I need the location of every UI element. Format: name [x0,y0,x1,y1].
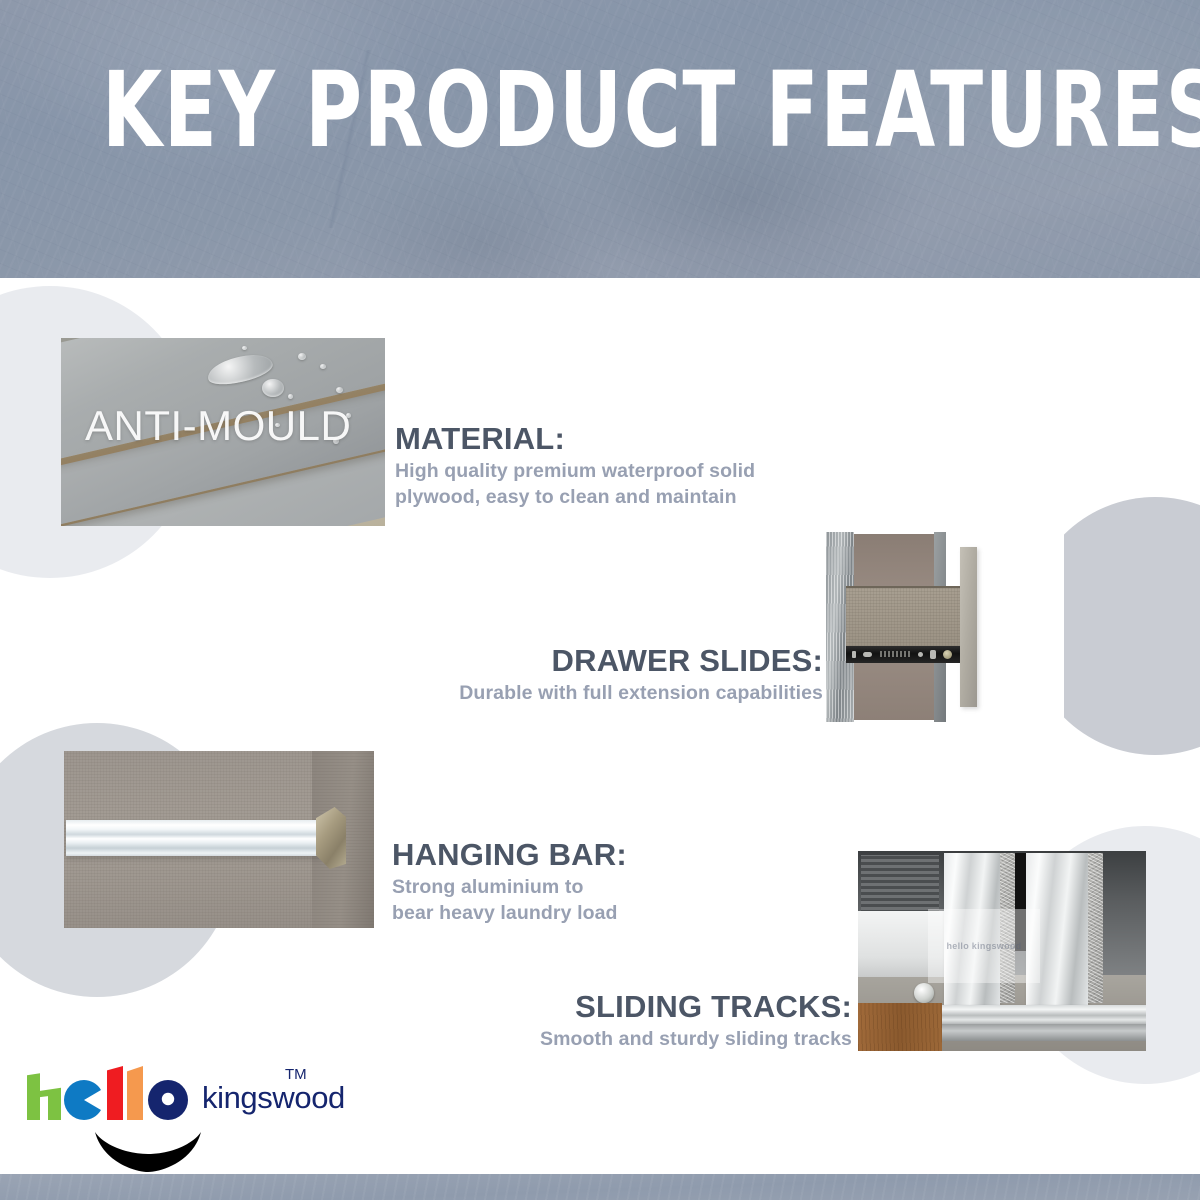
header-banner: KEY PRODUCT FEATURES [0,0,1200,278]
rail-detail [918,652,923,657]
feature-title-sliding-tracks: SLIDING TRACKS: [452,988,852,1026]
aluminium-hanging-bar [66,820,322,856]
water-droplet-small [242,346,247,350]
rail-detail [863,652,872,657]
footer-bar [0,1174,1200,1200]
brand-logo[interactable]: kingswood TM [27,1064,317,1168]
feature-desc-sliding-tracks: Smooth and sturdy sliding tracks [452,1026,852,1052]
louvered-panel [861,855,939,913]
wooden-floor-trim [858,1003,942,1051]
water-droplet-small [298,353,306,360]
feature-desc-material-line1: High quality premium waterproof solid [395,458,755,484]
logo-letter-e-icon [64,1080,104,1120]
rail-detail [852,651,856,658]
feature-text-hanging-bar: HANGING BAR: Strong aluminium to bear he… [392,836,627,926]
rail-branding-mark [880,651,910,657]
feature-desc-hanging-bar-line2: bear heavy laundry load [392,900,627,926]
logo-wordmark-hello [27,1064,188,1120]
logo-trademark-symbol: TM [285,1066,307,1083]
feature-desc-drawer-slides: Durable with full extension capabilities [375,680,823,706]
feature-text-material: MATERIAL: High quality premium waterproo… [395,420,755,510]
feature-desc-hanging-bar-line1: Strong aluminium to [392,874,627,900]
hanging-bar-bracket [316,807,346,869]
logo-smile-icon [89,1126,207,1172]
track-roller-wheel [914,983,934,1003]
sliding-track-photo: hello kingswood [858,851,1146,1051]
door-foam-seal [1088,853,1103,1003]
brand-watermark: hello kingswood [928,909,1040,983]
logo-letter-o-icon [148,1080,188,1120]
feature-text-sliding-tracks: SLIDING TRACKS: Smooth and sturdy slidin… [452,988,852,1052]
drawer-slide-photo [826,521,1064,729]
anti-mould-overlay-label: ANTI-MOULD [85,405,351,447]
logo-letter-l-red-icon [107,1066,123,1120]
rail-screw [943,650,952,659]
feature-title-hanging-bar: HANGING BAR: [392,836,627,874]
feature-title-material: MATERIAL: [395,420,755,458]
logo-letter-h-icon [27,1068,61,1120]
hanging-bar-photo [64,751,374,928]
page-title: KEY PRODUCT FEATURES [102,58,1098,162]
feature-desc-material-line2: plywood, easy to clean and maintain [395,484,755,510]
rail-detail [930,650,936,659]
feature-text-drawer-slides: DRAWER SLIDES: Durable with full extensi… [375,642,823,706]
infographic-canvas: KEY PRODUCT FEATURES ANTI-MOULD [0,0,1200,1200]
drawer-slide-rail [846,646,964,663]
drawer-front-panel [960,547,977,707]
logo-letter-l-orange-icon [127,1066,143,1120]
drawer-box [846,586,962,646]
logo-brand-name: kingswood [202,1082,345,1113]
feature-title-drawer-slides: DRAWER SLIDES: [375,642,823,680]
